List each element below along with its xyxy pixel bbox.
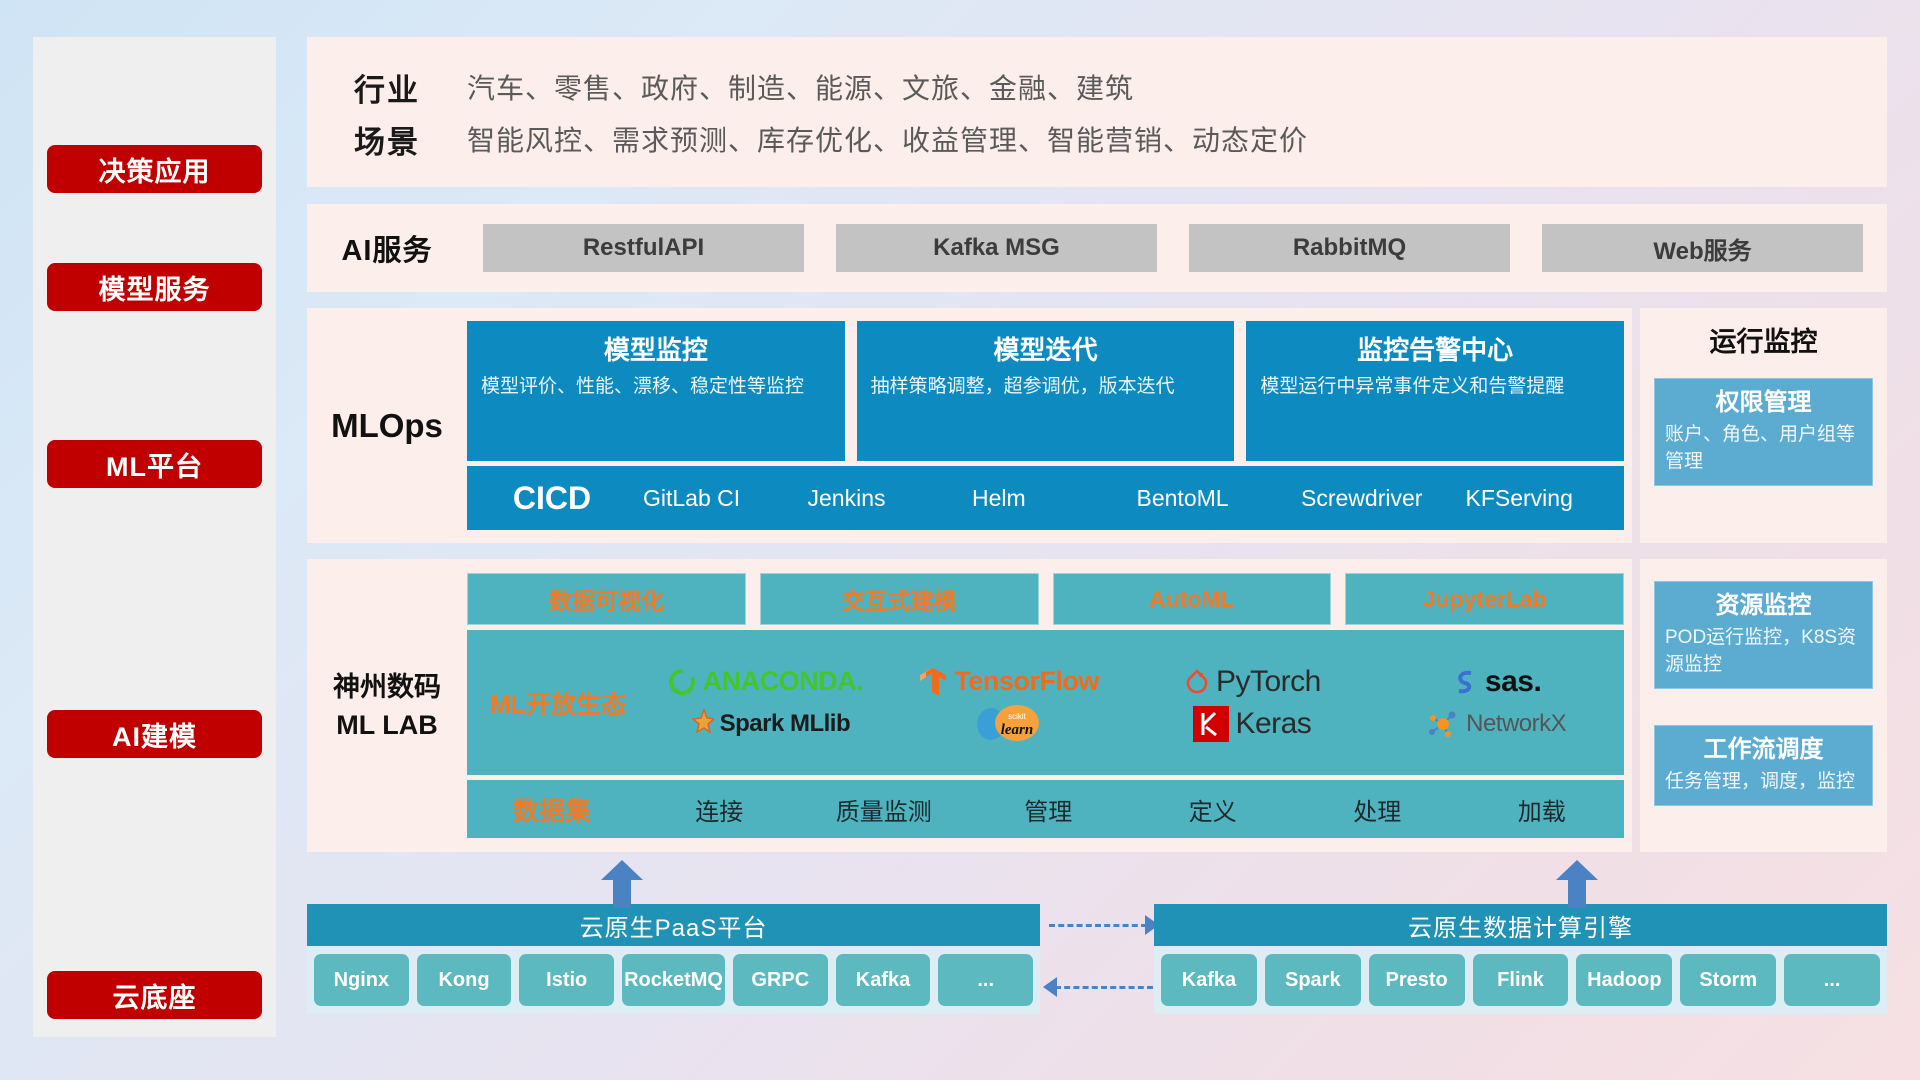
spark-mllib-logo-text: Spark MLlib bbox=[720, 710, 851, 738]
tensorflow-logo-text: TensorFlow bbox=[954, 666, 1099, 697]
industry-label: 行业 bbox=[307, 65, 467, 110]
cloud-chip-storm[interactable]: Storm bbox=[1680, 954, 1776, 1006]
cloud-data-engine-title: 云原生数据计算引擎 bbox=[1154, 904, 1887, 946]
pytorch-logo-text: PyTorch bbox=[1216, 665, 1321, 699]
cloud-paas-group: 云原生PaaS平台 Nginx Kong Istio RocketMQ GRPC… bbox=[307, 904, 1040, 1014]
cicd-item-jenkins[interactable]: Jenkins bbox=[802, 483, 967, 513]
tensorflow-icon bbox=[918, 666, 948, 698]
rail-item-ml-platform[interactable]: ML平台 bbox=[47, 440, 262, 488]
card-title: 监控告警中心 bbox=[1260, 331, 1610, 369]
cloud-chip-flink[interactable]: Flink bbox=[1473, 954, 1569, 1006]
ai-service-chip-rabbitmq[interactable]: RabbitMQ bbox=[1189, 224, 1510, 272]
ecosystem-logo-grid: ANACONDA. TensorFlow bbox=[643, 661, 1618, 745]
dataset-label: 数据集 bbox=[467, 791, 637, 828]
cloud-chip-spark[interactable]: Spark bbox=[1265, 954, 1361, 1006]
scenario-row: 场景 智能风控、需求预测、库存优化、收益管理、智能营销、动态定价 bbox=[307, 113, 1887, 165]
dataset-item-process[interactable]: 处理 bbox=[1295, 792, 1460, 827]
tensorflow-logo: TensorFlow bbox=[918, 666, 1099, 698]
monitoring-rail-lower: 资源监控 POD运行监控，K8S资源监控 工作流调度 任务管理，调度，监控 bbox=[1640, 559, 1887, 852]
cicd-item-bentoml[interactable]: BentoML bbox=[1131, 483, 1296, 513]
mlops-card-model-monitoring[interactable]: 模型监控 模型评价、性能、漂移、稳定性等监控 bbox=[467, 321, 845, 461]
rail-item-cloud-base[interactable]: 云底座 bbox=[47, 971, 262, 1019]
monitoring-card-permission[interactable]: 权限管理 账户、角色、用户组等管理 bbox=[1654, 378, 1873, 486]
networkx-logo-text: NetworkX bbox=[1466, 712, 1566, 736]
ai-service-chip-restfulapi[interactable]: RestfulAPI bbox=[483, 224, 804, 272]
cloud-chip-kafka[interactable]: Kafka bbox=[836, 954, 931, 1006]
scenario-label: 场景 bbox=[307, 117, 467, 162]
cloud-data-engine-group: 云原生数据计算引擎 Kafka Spark Presto Flink Hadoo… bbox=[1154, 904, 1887, 1014]
rail-label: 决策应用 bbox=[99, 150, 211, 189]
spark-icon bbox=[680, 709, 714, 739]
ml-lab-label-line1: 神州数码 bbox=[333, 668, 441, 706]
card-desc: 账户、角色、用户组等管理 bbox=[1665, 421, 1862, 475]
tab-data-visualization[interactable]: 数据可视化 bbox=[467, 573, 746, 625]
keras-logo: Keras bbox=[1193, 706, 1311, 742]
cloud-chip-kong[interactable]: Kong bbox=[417, 954, 512, 1006]
mlops-content: 模型监控 模型评价、性能、漂移、稳定性等监控 模型迭代 抽样策略调整，超参调优，… bbox=[467, 321, 1632, 530]
rail-label: 云底座 bbox=[113, 976, 197, 1015]
decision-application-band: 行业 汽车、零售、政府、制造、能源、文旅、金融、建筑 场景 智能风控、需求预测、… bbox=[307, 37, 1887, 187]
anaconda-icon bbox=[667, 667, 697, 697]
ml-open-ecosystem-box: ML开放生态 ANACONDA. bbox=[467, 630, 1624, 775]
card-desc: 模型运行中异常事件定义和告警提醒 bbox=[1260, 373, 1610, 401]
ai-service-chip-list: RestfulAPI Kafka MSG RabbitMQ Web服务 bbox=[467, 224, 1887, 272]
ml-lab-label-line2: ML LAB bbox=[336, 706, 438, 744]
anaconda-logo-text: ANACONDA. bbox=[703, 666, 864, 697]
dataset-item-connect[interactable]: 连接 bbox=[637, 792, 802, 827]
cloud-paas-title: 云原生PaaS平台 bbox=[307, 904, 1040, 946]
cloud-chip-more-left[interactable]: ... bbox=[938, 954, 1033, 1006]
cloud-paas-chip-tray: Nginx Kong Istio RocketMQ GRPC Kafka ... bbox=[307, 946, 1040, 1014]
ml-lab-section: 神州数码 ML LAB 数据可视化 交互式建模 AutoML JupyterLa… bbox=[307, 559, 1632, 852]
mlops-card-alert-center[interactable]: 监控告警中心 模型运行中异常事件定义和告警提醒 bbox=[1246, 321, 1624, 461]
sas-logo-text: sas. bbox=[1485, 665, 1541, 699]
dataset-item-manage[interactable]: 管理 bbox=[966, 792, 1131, 827]
connector-dashed-left bbox=[1055, 986, 1153, 989]
mlops-card-list: 模型监控 模型评价、性能、漂移、稳定性等监控 模型迭代 抽样策略调整，超参调优，… bbox=[467, 321, 1624, 461]
ai-service-chip-web-service[interactable]: Web服务 bbox=[1542, 224, 1863, 272]
tab-interactive-modeling[interactable]: 交互式建模 bbox=[760, 573, 1039, 625]
cicd-item-helm[interactable]: Helm bbox=[966, 483, 1131, 513]
scenario-value: 智能风控、需求预测、库存优化、收益管理、智能营销、动态定价 bbox=[467, 119, 1308, 159]
scikit-learn-icon: scikit learn bbox=[973, 703, 1045, 745]
rail-item-decision-app[interactable]: 决策应用 bbox=[47, 145, 262, 193]
anaconda-logo: ANACONDA. bbox=[667, 666, 864, 697]
dataset-item-define[interactable]: 定义 bbox=[1131, 792, 1296, 827]
ml-platform-band: MLOps 模型监控 模型评价、性能、漂移、稳定性等监控 模型迭代 抽样策略调整… bbox=[307, 308, 1887, 543]
mlops-section: MLOps 模型监控 模型评价、性能、漂移、稳定性等监控 模型迭代 抽样策略调整… bbox=[307, 308, 1632, 543]
architecture-main-column: 行业 汽车、零售、政府、制造、能源、文旅、金融、建筑 场景 智能风控、需求预测、… bbox=[307, 37, 1887, 852]
svg-text:scikit: scikit bbox=[1008, 712, 1027, 721]
sas-logo: sas. bbox=[1451, 665, 1541, 699]
industry-row: 行业 汽车、零售、政府、制造、能源、文旅、金融、建筑 bbox=[307, 61, 1887, 113]
card-title: 工作流调度 bbox=[1665, 732, 1862, 768]
scikit-learn-logo: scikit learn bbox=[973, 703, 1045, 745]
cloud-chip-grpc[interactable]: GRPC bbox=[733, 954, 828, 1006]
networkx-logo: NetworkX bbox=[1426, 708, 1566, 740]
monitoring-card-resource[interactable]: 资源监控 POD运行监控，K8S资源监控 bbox=[1654, 581, 1873, 689]
cloud-chip-nginx[interactable]: Nginx bbox=[314, 954, 409, 1006]
pytorch-icon bbox=[1184, 667, 1210, 697]
dataset-item-quality-monitor[interactable]: 质量监测 bbox=[802, 792, 967, 827]
mlops-label: MLOps bbox=[307, 321, 467, 530]
mlops-card-model-iteration[interactable]: 模型迭代 抽样策略调整，超参调优，版本迭代 bbox=[857, 321, 1235, 461]
ai-service-label: AI服务 bbox=[307, 227, 467, 269]
rail-item-ai-modeling[interactable]: AI建模 bbox=[47, 710, 262, 758]
keras-logo-text: Keras bbox=[1235, 707, 1311, 741]
industry-value: 汽车、零售、政府、制造、能源、文旅、金融、建筑 bbox=[467, 67, 1134, 107]
card-desc: 任务管理，调度，监控 bbox=[1665, 768, 1862, 795]
cloud-base-zone: 云原生PaaS平台 Nginx Kong Istio RocketMQ GRPC… bbox=[307, 860, 1887, 1035]
cicd-label: CICD bbox=[467, 480, 637, 517]
card-title: 模型迭代 bbox=[871, 331, 1221, 369]
svg-text:learn: learn bbox=[1000, 722, 1033, 738]
cicd-item-kfserving[interactable]: KFServing bbox=[1460, 483, 1625, 513]
cicd-item-gitlab-ci[interactable]: GitLab CI bbox=[637, 483, 802, 513]
cicd-item-screwdriver[interactable]: Screwdriver bbox=[1295, 483, 1460, 513]
up-arrow-icon-paas bbox=[599, 860, 645, 908]
cloud-chip-hadoop[interactable]: Hadoop bbox=[1576, 954, 1672, 1006]
card-title: 权限管理 bbox=[1665, 385, 1862, 421]
ml-lab-tab-list: 数据可视化 交互式建模 AutoML JupyterLab bbox=[467, 573, 1624, 625]
ai-service-chip-kafka-msg[interactable]: Kafka MSG bbox=[836, 224, 1157, 272]
cloud-data-engine-chip-tray: Kafka Spark Presto Flink Hadoop Storm ..… bbox=[1154, 946, 1887, 1014]
ai-service-band: AI服务 RestfulAPI Kafka MSG RabbitMQ Web服务 bbox=[307, 204, 1887, 292]
spark-mllib-logo: Spark MLlib bbox=[680, 709, 851, 739]
pytorch-logo: PyTorch bbox=[1184, 665, 1321, 699]
left-stack-rail: 决策应用 模型服务 ML平台 AI建模 云底座 bbox=[33, 37, 276, 1037]
dataset-item-load[interactable]: 加载 bbox=[1460, 792, 1625, 827]
cloud-chip-presto[interactable]: Presto bbox=[1369, 954, 1465, 1006]
card-desc: 抽样策略调整，超参调优，版本迭代 bbox=[871, 373, 1221, 401]
sas-icon bbox=[1451, 667, 1479, 697]
keras-icon bbox=[1193, 706, 1229, 742]
card-title: 模型监控 bbox=[481, 331, 831, 369]
card-title: 资源监控 bbox=[1665, 588, 1862, 624]
connector-arrowhead-left bbox=[1043, 977, 1057, 997]
cloud-chip-kafka-right[interactable]: Kafka bbox=[1161, 954, 1257, 1006]
rail-item-model-service[interactable]: 模型服务 bbox=[47, 263, 262, 311]
card-desc: POD运行监控，K8S资源监控 bbox=[1665, 624, 1862, 678]
cloud-chip-more-right[interactable]: ... bbox=[1784, 954, 1880, 1006]
ml-lab-label: 神州数码 ML LAB bbox=[307, 573, 467, 838]
dataset-row: 数据集 连接 质量监测 管理 定义 处理 加载 bbox=[467, 780, 1624, 838]
networkx-icon bbox=[1426, 708, 1460, 740]
connector-dashed-right bbox=[1049, 924, 1147, 927]
card-desc: 模型评价、性能、漂移、稳定性等监控 bbox=[481, 373, 831, 401]
rail-label: ML平台 bbox=[106, 445, 203, 484]
up-arrow-icon-data-engine bbox=[1554, 860, 1600, 908]
rail-label: 模型服务 bbox=[99, 268, 211, 307]
tab-jupyterlab[interactable]: JupyterLab bbox=[1345, 573, 1624, 625]
monitoring-title: 运行监控 bbox=[1654, 318, 1873, 366]
rail-label: AI建模 bbox=[112, 715, 197, 754]
tab-automl[interactable]: AutoML bbox=[1053, 573, 1332, 625]
monitoring-rail-upper: 运行监控 权限管理 账户、角色、用户组等管理 bbox=[1640, 308, 1887, 543]
ai-modeling-band: 神州数码 ML LAB 数据可视化 交互式建模 AutoML JupyterLa… bbox=[307, 559, 1887, 852]
monitoring-card-workflow[interactable]: 工作流调度 任务管理，调度，监控 bbox=[1654, 725, 1873, 806]
cloud-chip-istio[interactable]: Istio bbox=[519, 954, 614, 1006]
cloud-chip-rocketmq[interactable]: RocketMQ bbox=[622, 954, 725, 1006]
ml-lab-content: 数据可视化 交互式建模 AutoML JupyterLab ML开放生态 ANA… bbox=[467, 573, 1632, 838]
cicd-row: CICD GitLab CI Jenkins Helm BentoML Scre… bbox=[467, 466, 1624, 530]
ml-open-ecosystem-label: ML开放生态 bbox=[473, 685, 643, 721]
